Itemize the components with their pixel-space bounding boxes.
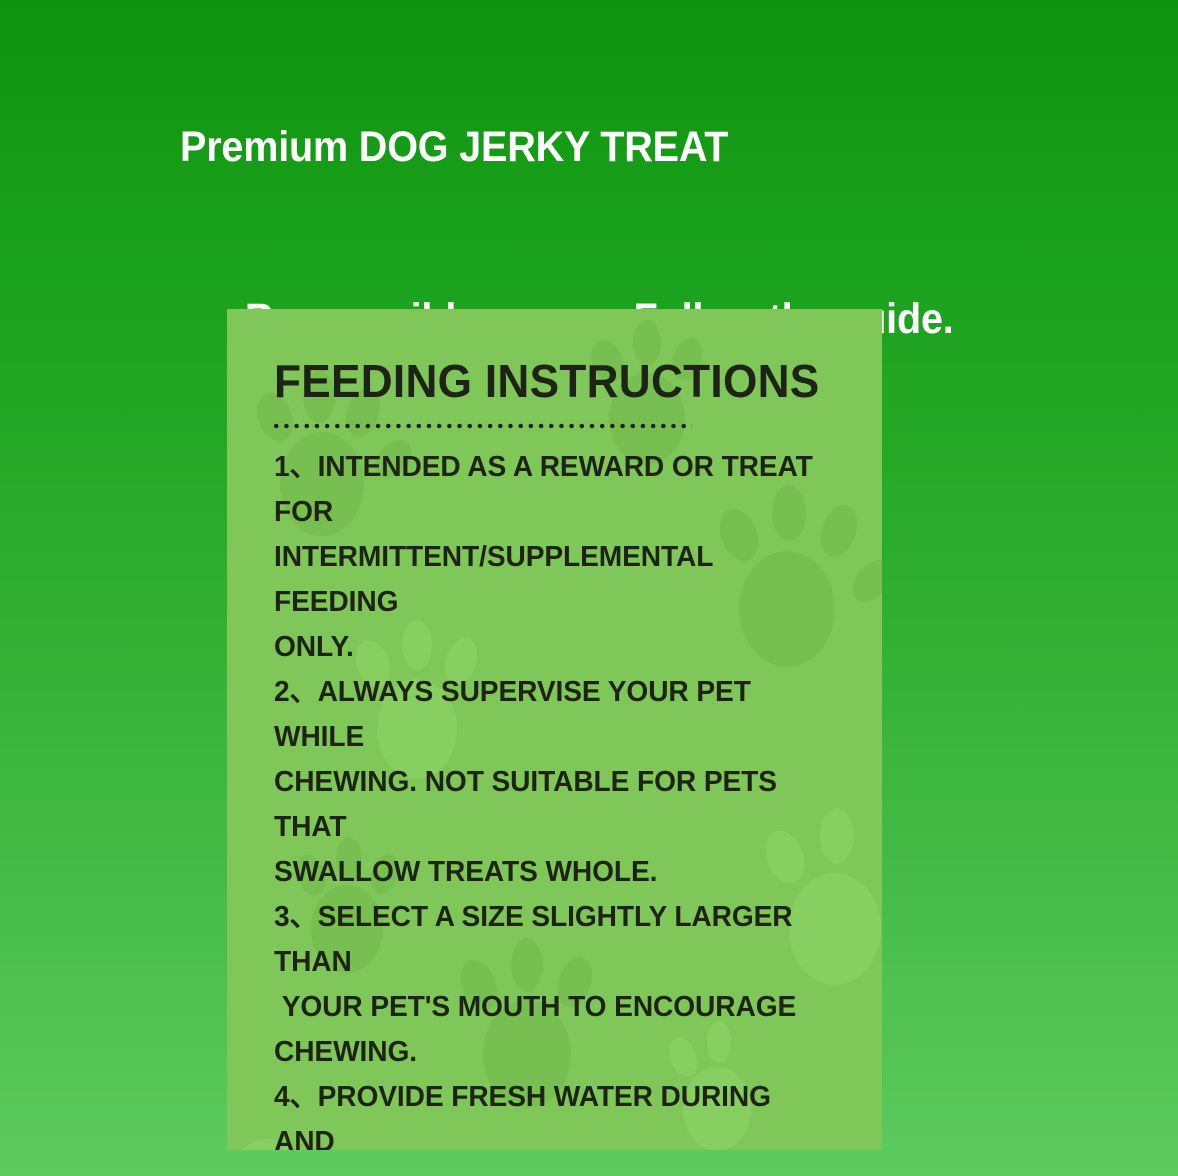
feeding-step-1: 1、INTENDED AS A REWARD OR TREAT FOR INTE… xyxy=(274,445,825,670)
headline-primary: Premium DOG JERKY TREAT xyxy=(180,104,1063,190)
dotted-divider xyxy=(274,423,692,429)
feeding-step-2: 2、ALWAYS SUPERVISE YOUR PET WHILE CHEWIN… xyxy=(274,670,825,895)
card-title: FEEDING INSTRUCTIONS xyxy=(274,357,819,405)
feeding-steps-list: 1、INTENDED AS A REWARD OR TREAT FOR INTE… xyxy=(274,445,825,1150)
poster-canvas: Premium DOG JERKY TREAT Responsible care… xyxy=(0,0,1178,1176)
card-content: FEEDING INSTRUCTIONS 1、INTENDED AS A REW… xyxy=(227,309,882,1150)
feeding-step-3: 3、SELECT A SIZE SLIGHTLY LARGER THAN YOU… xyxy=(274,895,825,1075)
feeding-instructions-card: FEEDING INSTRUCTIONS 1、INTENDED AS A REW… xyxy=(227,309,882,1150)
feeding-step-4: 4、PROVIDE FRESH WATER DURING AND AFTER C… xyxy=(274,1075,825,1150)
